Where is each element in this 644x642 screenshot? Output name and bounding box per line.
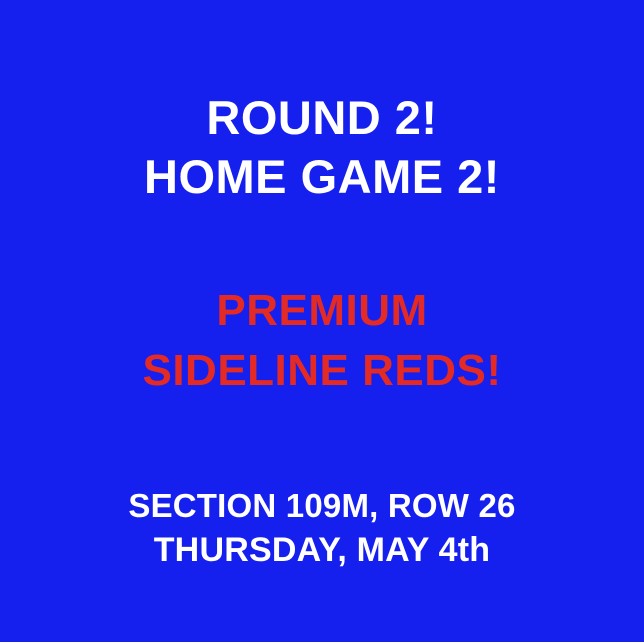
seat-location-text: SECTION 109M, ROW 26 <box>0 484 644 528</box>
details-block: SECTION 109M, ROW 26 THURSDAY, MAY 4th <box>0 484 644 572</box>
headline-line-home-game: HOME GAME 2! <box>0 147 644 206</box>
event-date-text: THURSDAY, MAY 4th <box>0 528 644 572</box>
feature-line-sideline-reds: SIDELINE REDS! <box>0 341 644 401</box>
headline-line-round: ROUND 2! <box>0 88 644 147</box>
ticket-poster: ROUND 2! HOME GAME 2! PREMIUM SIDELINE R… <box>0 0 644 642</box>
feature-line-premium: PREMIUM <box>0 281 644 341</box>
headline-block: ROUND 2! HOME GAME 2! <box>0 88 644 206</box>
feature-block: PREMIUM SIDELINE REDS! <box>0 281 644 401</box>
